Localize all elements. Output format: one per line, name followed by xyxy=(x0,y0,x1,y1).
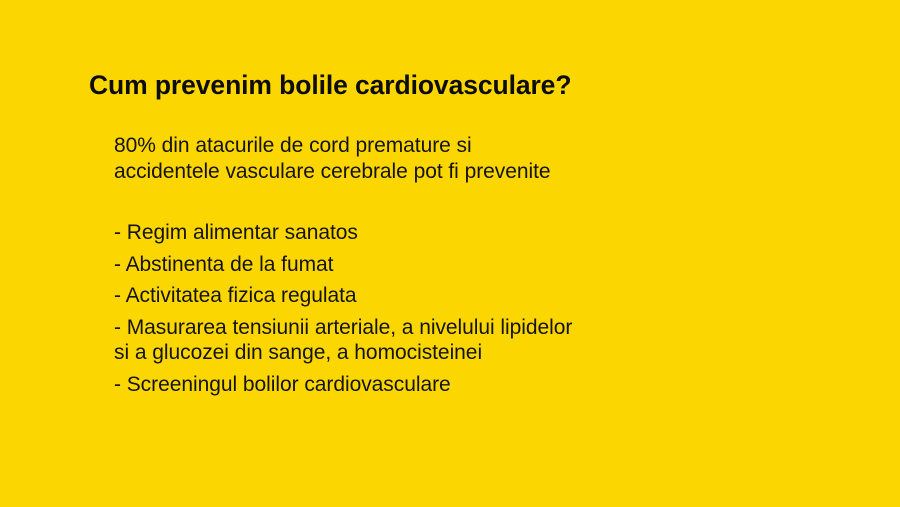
intro-paragraph: 80% din atacurile de cord premature si a… xyxy=(114,133,814,185)
page-title: Cum prevenim bolile cardiovasculare? xyxy=(89,70,571,101)
slide-body: 80% din atacurile de cord premature si a… xyxy=(114,133,814,397)
list-item: - Activitatea fizica regulata xyxy=(114,283,814,309)
intro-line-2: accidentele vasculare cerebrale pot fi p… xyxy=(114,159,814,185)
list-item-line-1: - Abstinenta de la fumat xyxy=(114,252,814,278)
list-item-line-1: - Screeningul bolilor cardiovasculare xyxy=(114,372,814,398)
list-item: - Masurarea tensiunii arteriale, a nivel… xyxy=(114,315,814,366)
list-item-line-1: - Activitatea fizica regulata xyxy=(114,283,814,309)
list-item-line-1: - Regim alimentar sanatos xyxy=(114,220,814,246)
list-item: - Regim alimentar sanatos xyxy=(114,220,814,246)
list-item: - Abstinenta de la fumat xyxy=(114,252,814,278)
prevention-bullet-list: - Regim alimentar sanatos - Abstinenta d… xyxy=(114,220,814,397)
list-item-line-2: si a glucozei din sange, a homocisteinei xyxy=(114,340,814,366)
slide-canvas: Cum prevenim bolile cardiovasculare? 80%… xyxy=(0,0,900,507)
list-item: - Screeningul bolilor cardiovasculare xyxy=(114,372,814,398)
list-item-line-1: - Masurarea tensiunii arteriale, a nivel… xyxy=(114,315,814,341)
intro-line-1: 80% din atacurile de cord premature si xyxy=(114,133,814,159)
